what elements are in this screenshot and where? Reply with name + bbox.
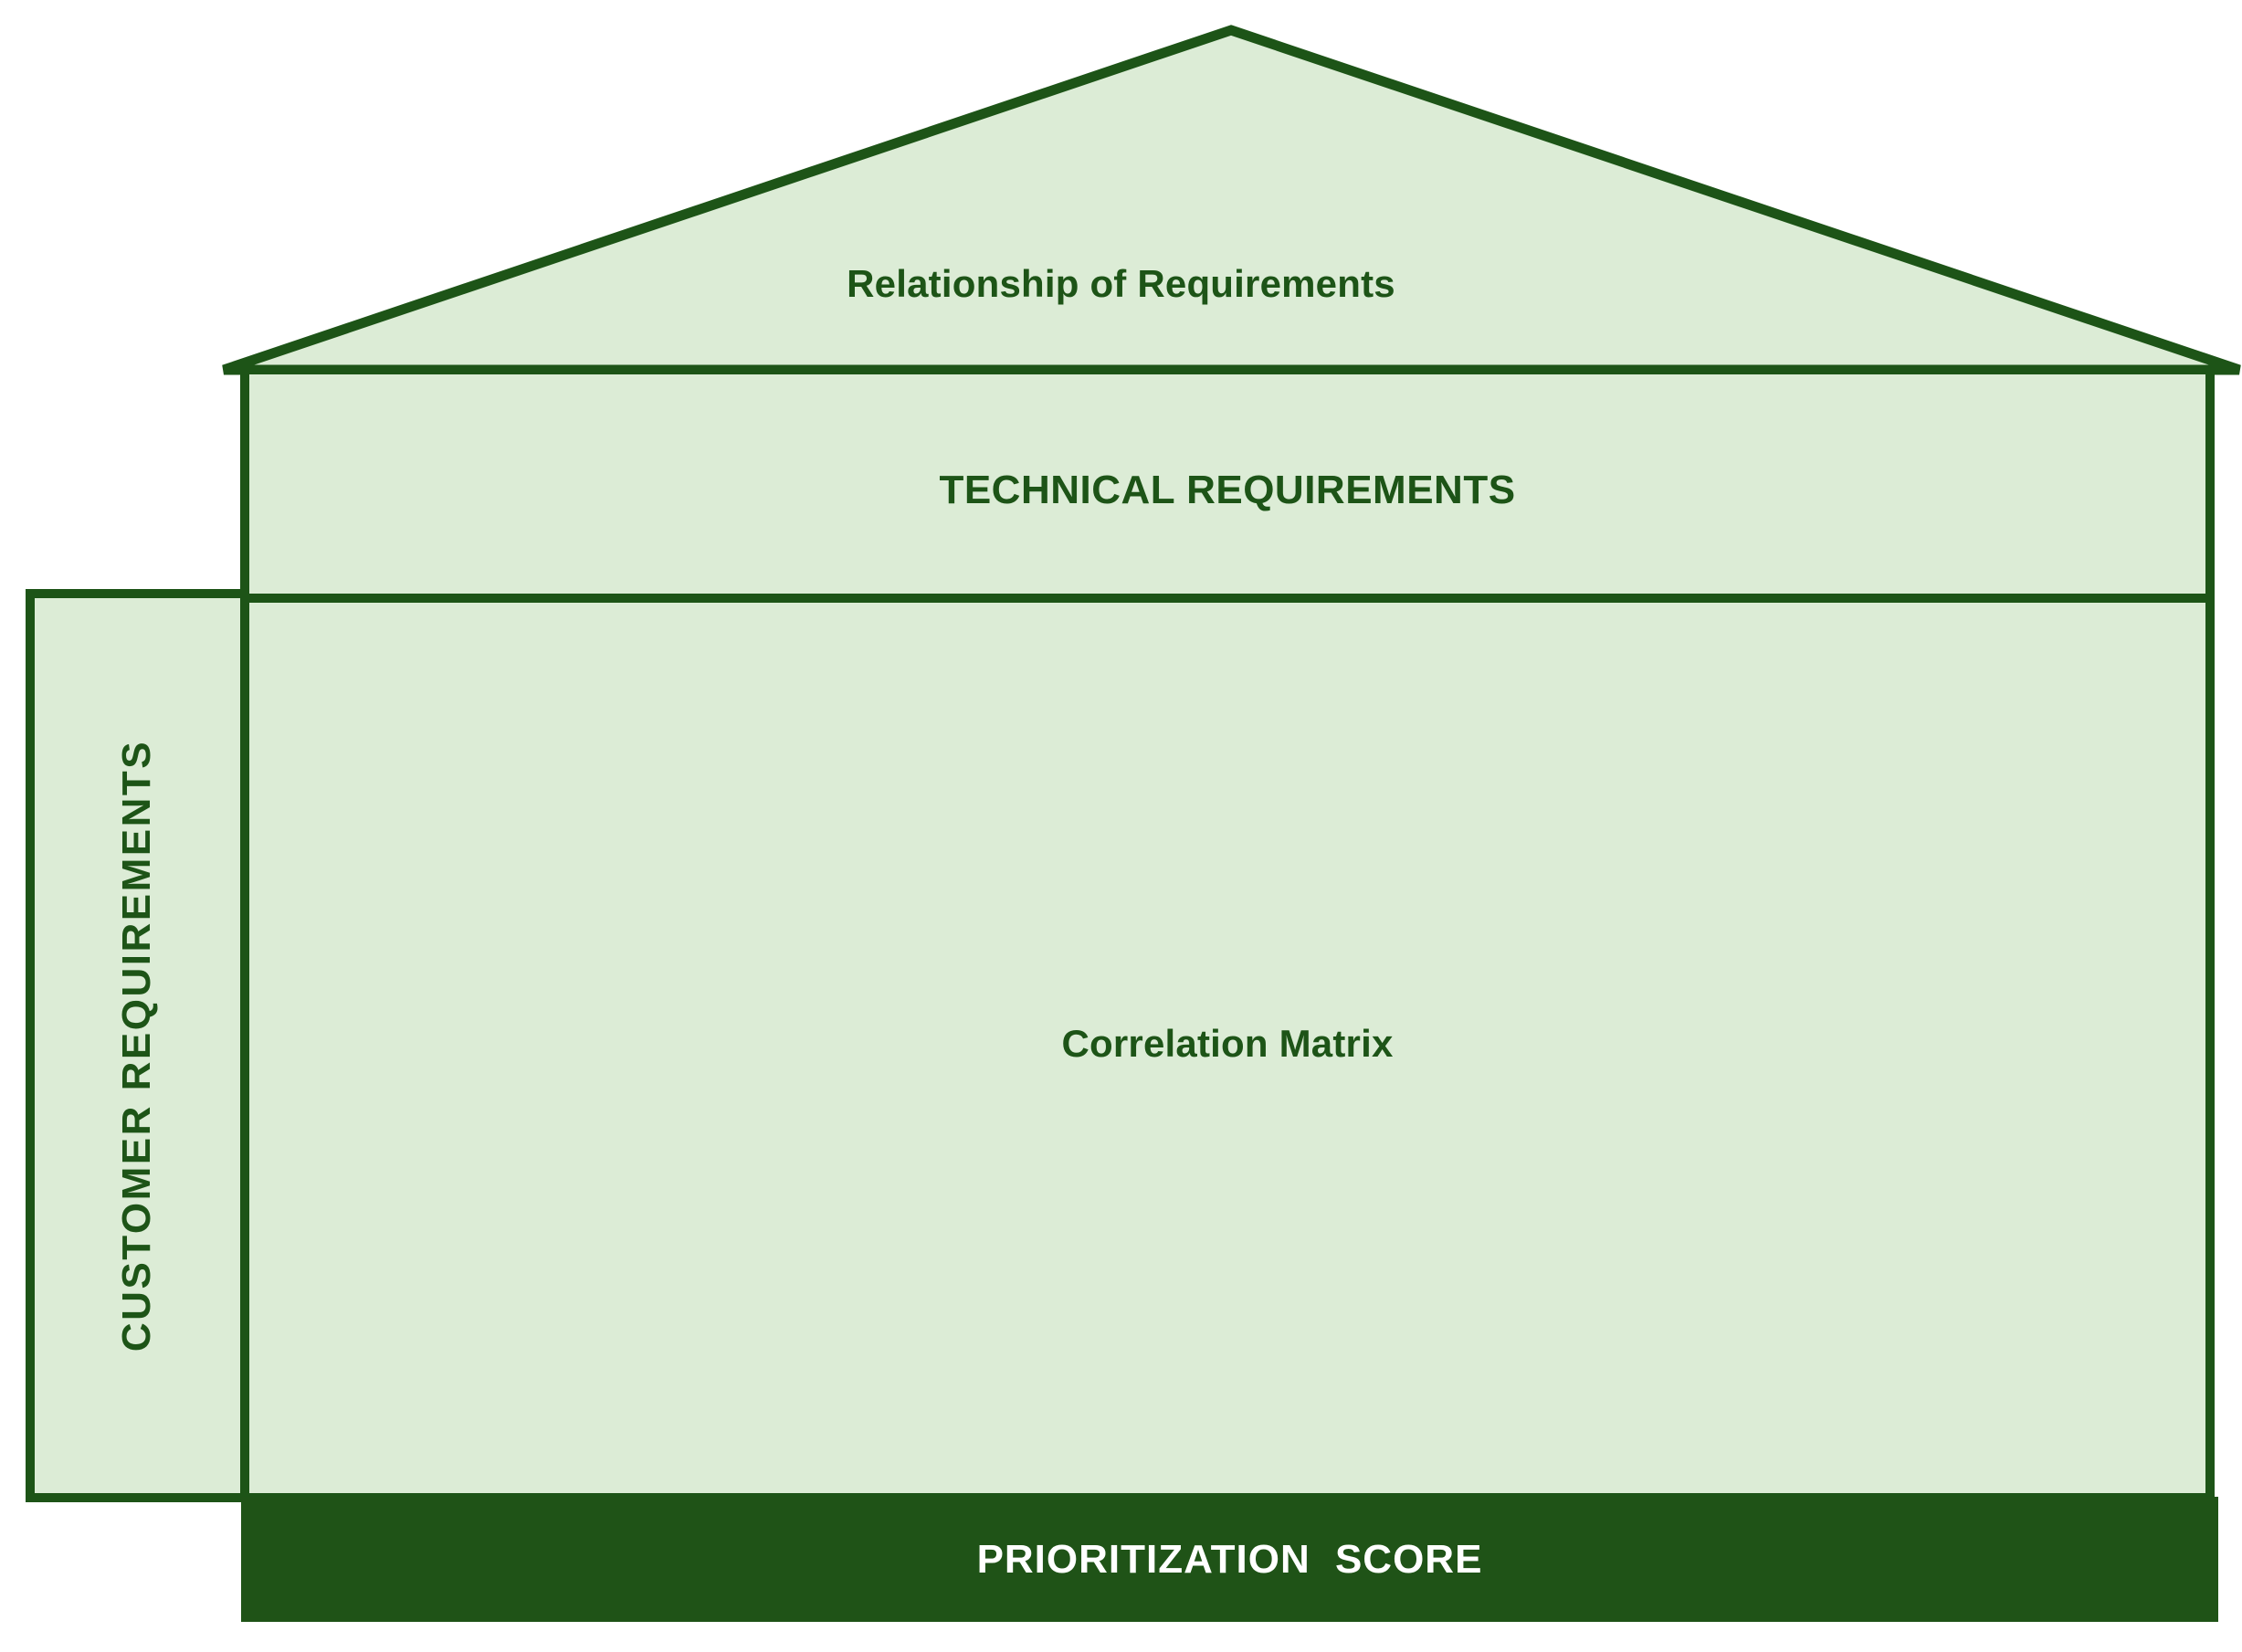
house-of-quality-diagram: Relationship of Requirements TECHNICAL R… <box>0 0 2242 1652</box>
prioritization-score-label-container: PRIORITIZATION SCORE <box>242 1498 2217 1621</box>
roof-triangle <box>224 30 2239 370</box>
roof-label: Relationship of Requirements <box>0 265 2242 303</box>
customer-requirements-label: CUSTOMER REQUIREMENTS <box>118 740 158 1352</box>
technical-requirements-label: TECHNICAL REQUIREMENTS <box>245 470 2210 510</box>
hoq-shapes-layer <box>0 0 2242 1652</box>
correlation-matrix-label: Correlation Matrix <box>245 1025 2210 1063</box>
customer-requirements-label-container: CUSTOMER REQUIREMENTS <box>30 594 245 1498</box>
prioritization-score-label: PRIORITIZATION SCORE <box>977 1540 1483 1580</box>
